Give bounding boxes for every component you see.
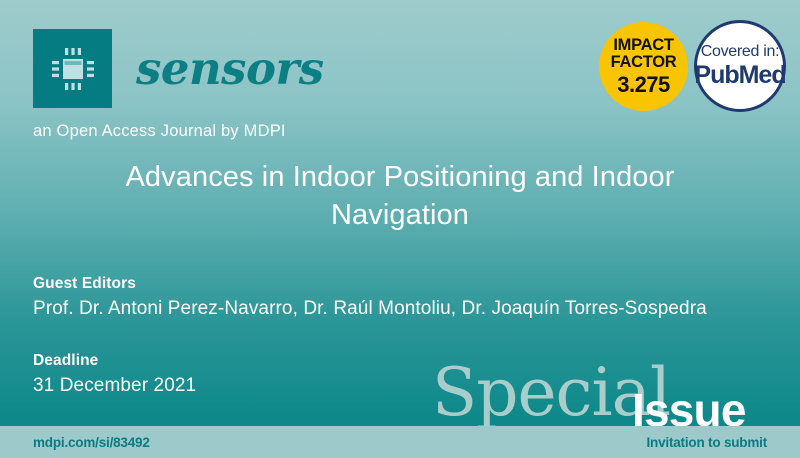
special-issue-title: Advances in Indoor Positioning and Indoo…: [0, 158, 800, 235]
deadline-block: Deadline 31 December 2021: [33, 352, 196, 397]
impact-factor-badge: IMPACT FACTOR 3.275: [599, 22, 688, 111]
guest-editors-block: Guest Editors Prof. Dr. Antoni Perez-Nav…: [33, 275, 707, 320]
pubmed-covered-label: Covered in:: [701, 44, 780, 61]
special-issue-banner: sensors an Open Access Journal by MDPI I…: [0, 0, 800, 458]
microchip-icon: [33, 29, 112, 108]
pubmed-badge: Covered in: PubMed: [694, 20, 786, 112]
deadline-label: Deadline: [33, 352, 196, 370]
journal-name: sensors: [136, 46, 324, 91]
journal-logo-block[interactable]: sensors: [33, 29, 324, 108]
deadline-value: 31 December 2021: [33, 375, 196, 397]
pubmed-label: PubMed: [694, 62, 785, 88]
special-issue-url[interactable]: mdpi.com/si/83492: [33, 435, 150, 450]
journal-tagline: an Open Access Journal by MDPI: [33, 122, 286, 141]
impact-factor-line1: IMPACT: [613, 37, 673, 54]
impact-factor-value: 3.275: [617, 73, 670, 96]
guest-editors-label: Guest Editors: [33, 275, 707, 293]
guest-editors-value: Prof. Dr. Antoni Perez-Navarro, Dr. Raúl…: [33, 298, 707, 320]
footer-bar: mdpi.com/si/83492 Invitation to submit: [0, 426, 800, 458]
invitation-to-submit-label[interactable]: Invitation to submit: [647, 435, 768, 450]
impact-factor-line2: FACTOR: [611, 54, 677, 71]
